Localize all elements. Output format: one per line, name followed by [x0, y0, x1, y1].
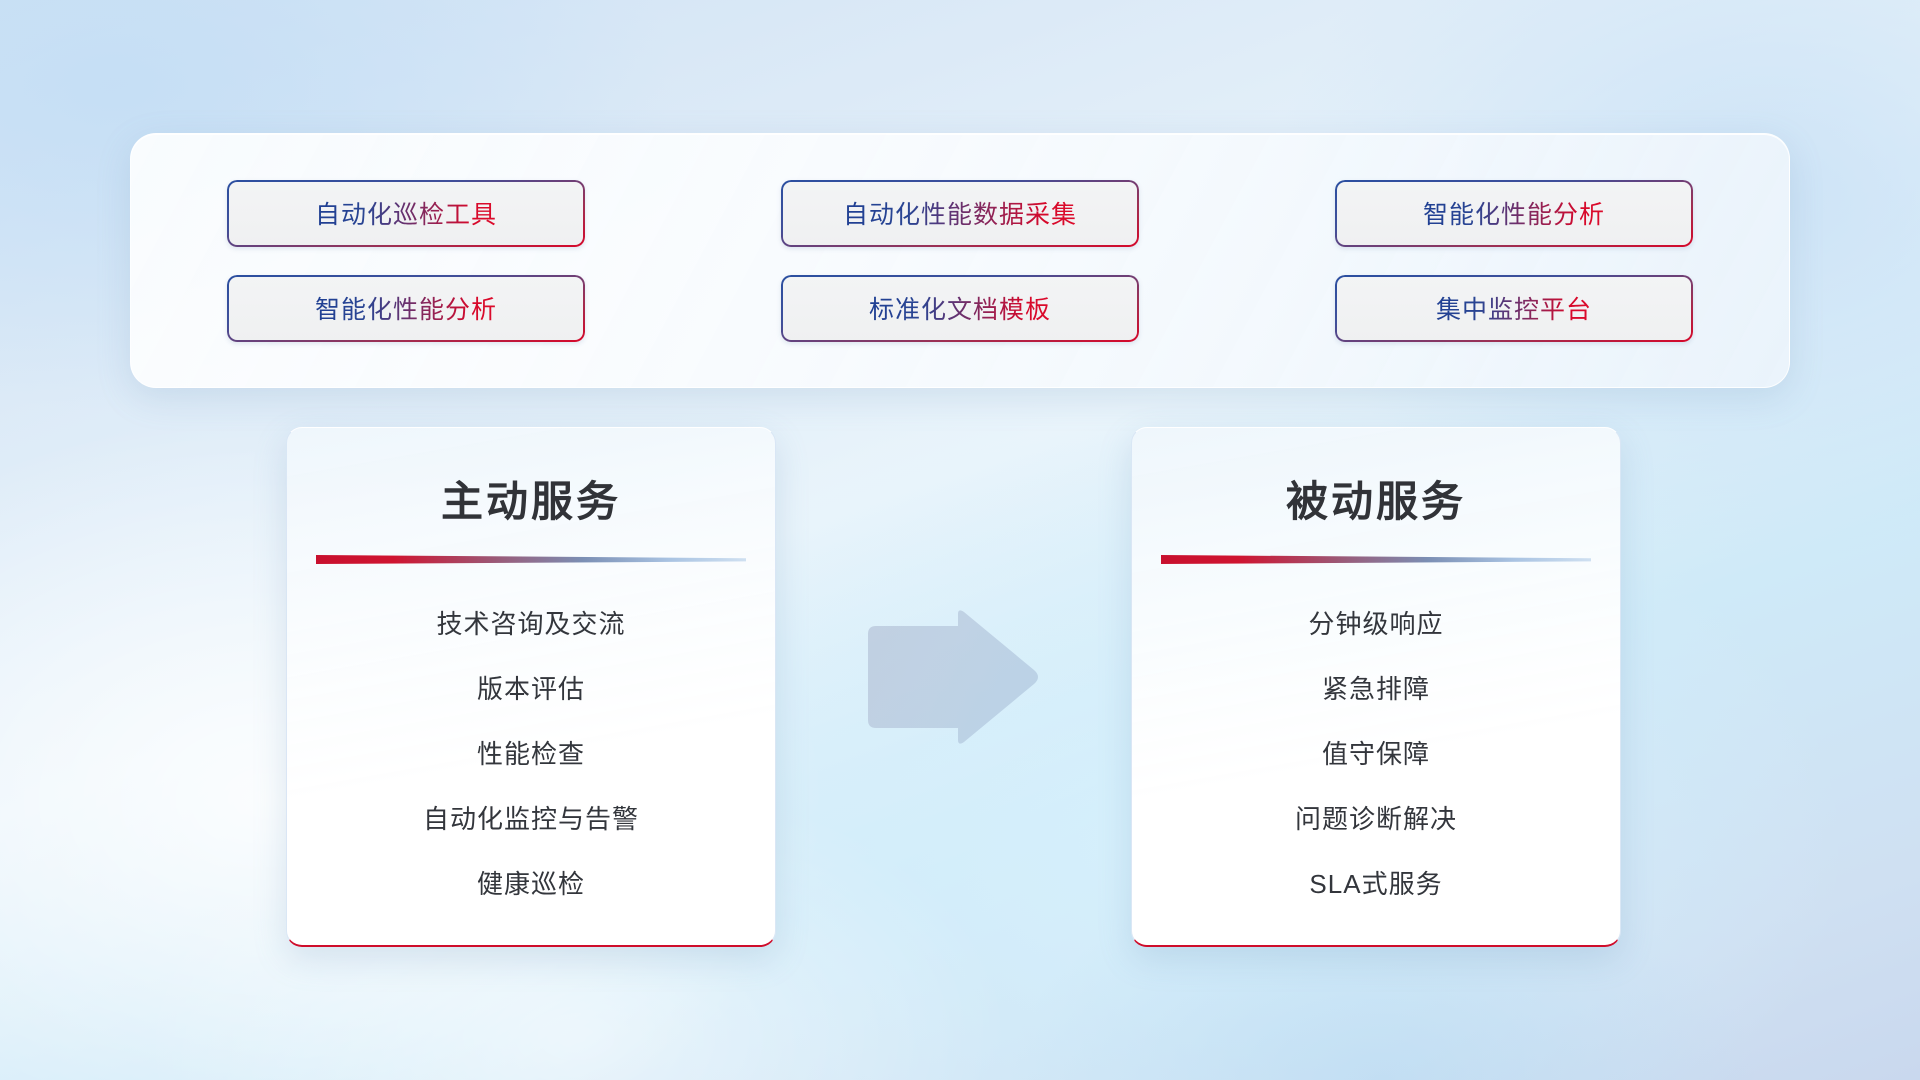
- service-item: 技术咨询及交流: [436, 604, 625, 641]
- capability-chip-label: 自动化巡检工具: [315, 195, 497, 231]
- capability-chip-label: 标准化文档模板: [869, 290, 1051, 326]
- service-card-reactive: 被动服务 分钟级响应 紧急排障 值守保障: [1131, 427, 1621, 947]
- capability-chip-label: 智能化性能分析: [1423, 195, 1605, 231]
- right-arrow-icon: [862, 608, 1042, 748]
- service-card-title: 被动服务: [1286, 468, 1466, 529]
- capability-row-1: 自动化巡检工具 自动化性能数据采集 智能化性能分析: [227, 180, 1693, 247]
- service-card-title: 主动服务: [441, 468, 621, 529]
- title-divider: [1161, 553, 1591, 566]
- capability-chip-label: 智能化性能分析: [315, 290, 497, 326]
- service-item: 健康巡检: [477, 864, 585, 901]
- service-card-proactive: 主动服务 技术咨询及交流 版本评估 性能检查: [286, 427, 776, 947]
- capability-chip[interactable]: 自动化巡检工具: [227, 180, 585, 247]
- capability-chip[interactable]: 自动化性能数据采集: [781, 180, 1139, 247]
- service-item: 分钟级响应: [1308, 604, 1443, 641]
- diagram-canvas: 自动化巡检工具 自动化性能数据采集 智能化性能分析 智能化性能分析 标准化文档模…: [0, 0, 1920, 1080]
- service-item-list: 技术咨询及交流 版本评估 性能检查 自动化监控与告警 健康巡检: [287, 604, 775, 901]
- capability-chip[interactable]: 智能化性能分析: [227, 275, 585, 342]
- capability-row-2: 智能化性能分析 标准化文档模板 集中监控平台: [227, 275, 1693, 342]
- capability-chip-label: 集中监控平台: [1436, 290, 1592, 326]
- service-item: 值守保障: [1322, 734, 1430, 771]
- service-item: 紧急排障: [1322, 669, 1430, 706]
- capability-chip[interactable]: 集中监控平台: [1335, 275, 1693, 342]
- capability-chip[interactable]: 智能化性能分析: [1335, 180, 1693, 247]
- service-item: SLA式服务: [1309, 864, 1442, 901]
- service-item: 性能检查: [477, 734, 585, 771]
- title-divider: [316, 553, 746, 566]
- service-item: 问题诊断解决: [1295, 799, 1457, 836]
- capability-chip-label: 自动化性能数据采集: [843, 195, 1077, 231]
- service-item: 版本评估: [477, 669, 585, 706]
- capability-panel: 自动化巡检工具 自动化性能数据采集 智能化性能分析 智能化性能分析 标准化文档模…: [130, 133, 1790, 388]
- service-item: 自动化监控与告警: [423, 799, 639, 836]
- service-item-list: 分钟级响应 紧急排障 值守保障 问题诊断解决 SLA式服务: [1132, 604, 1620, 901]
- capability-chip[interactable]: 标准化文档模板: [781, 275, 1139, 342]
